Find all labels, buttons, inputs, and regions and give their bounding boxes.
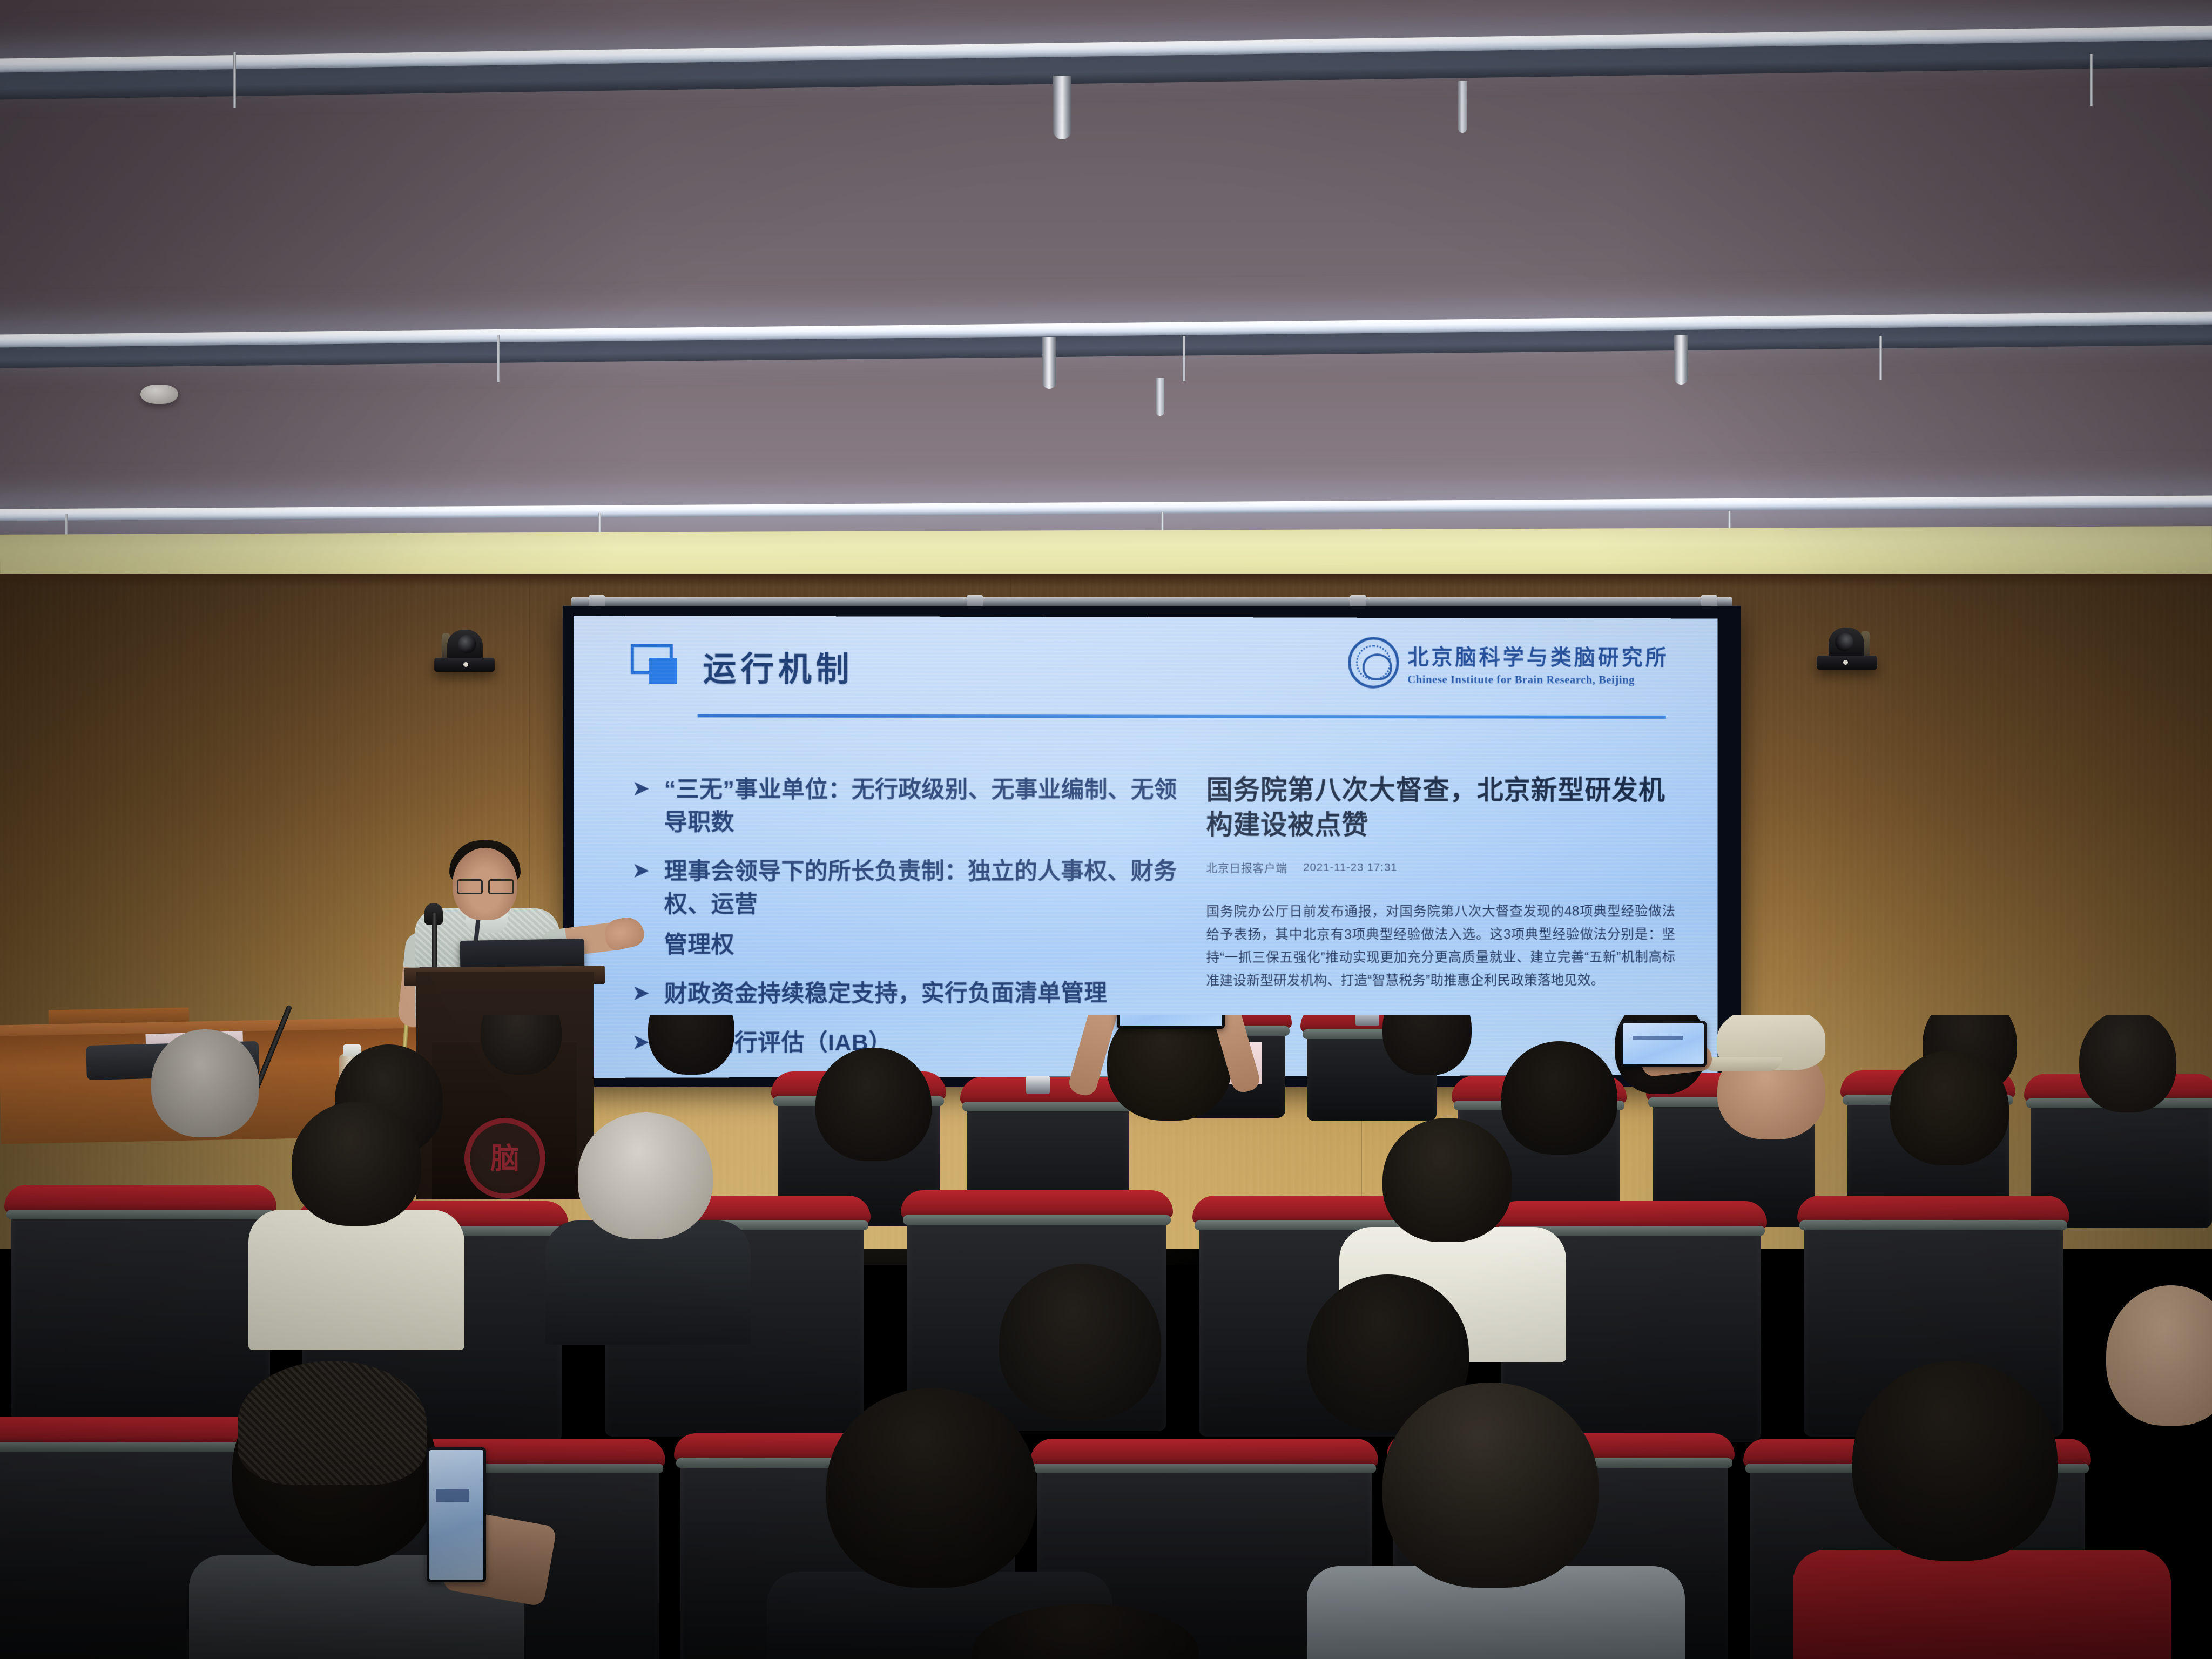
- smoke-detector-icon: [140, 385, 178, 404]
- bullet-item: ➤ “三无”事业单位：无行政级别、无事业编制、无领导职数: [632, 773, 1184, 839]
- audience-head: [1890, 1051, 2009, 1165]
- audience-head: [1382, 1118, 1512, 1242]
- phone-screen: [429, 1450, 483, 1580]
- auditorium-scene: 运行机制 北京脑科学与类脑研究所 Chinese Institute for B…: [0, 0, 2212, 1659]
- pendant-rod: [2090, 54, 2093, 106]
- screen-bracket: [967, 595, 983, 607]
- audience-shoulders-light: [248, 1210, 464, 1350]
- cap-brim: [1701, 1057, 1782, 1071]
- ptz-camera-left: [433, 630, 496, 682]
- institute-name-en: Chinese Institute for Brain Research, Be…: [1407, 673, 1669, 687]
- camera-lens-icon: [458, 635, 476, 653]
- pendant-spotlight-icon: [1156, 378, 1164, 416]
- ptz-camera-right: [1816, 628, 1878, 679]
- bullet-arrow-icon: ➤: [632, 982, 650, 1004]
- pendant-spotlight-icon: [1458, 81, 1467, 133]
- news-timestamp: 2021-11-23 17:31: [1303, 861, 1397, 874]
- presentation-slide: 运行机制 北京脑科学与类脑研究所 Chinese Institute for B…: [574, 616, 1717, 1078]
- audience-head: [481, 1015, 562, 1075]
- ceiling-shadow-right: [1618, 0, 2212, 543]
- pendant-rod: [497, 335, 500, 382]
- screen-bracket: [589, 595, 605, 607]
- slide-news-clipping: 国务院第八次大督查，北京新型研发机构建设被点赞 北京日报客户端 2021-11-…: [1206, 773, 1676, 993]
- institute-logo-mark-icon: [1348, 637, 1399, 688]
- audience-head: [2079, 1015, 2176, 1112]
- pendant-spotlight-icon: [1042, 337, 1056, 389]
- news-source: 北京日报客户端: [1206, 860, 1287, 876]
- audience-head: [2106, 1285, 2212, 1426]
- news-body: 国务院办公厅日前发布通报，对国务院第八次大督查发现的48项典型经验做法给予表扬，…: [1206, 900, 1676, 993]
- slide-decor-filled-square: [649, 658, 677, 684]
- screen-bracket: [1701, 595, 1717, 607]
- audience-head-grey: [151, 1029, 259, 1137]
- wall-top-trim: [0, 574, 2212, 588]
- smartphone-camera[interactable]: [1117, 1015, 1225, 1029]
- news-meta: 北京日报客户端 2021-11-23 17:31: [1206, 860, 1676, 876]
- institute-name-cn: 北京脑科学与类脑研究所: [1407, 639, 1669, 671]
- camera-lens-icon: [1835, 633, 1853, 651]
- bullet-text: 管理权: [664, 929, 734, 962]
- slide-title-rule: [698, 714, 1666, 719]
- pendant-rod: [1879, 336, 1882, 380]
- smartphone-camera[interactable]: [1620, 1021, 1707, 1067]
- pendant-rod: [1183, 336, 1185, 381]
- seat-clip: [1355, 1015, 1379, 1026]
- audience-area: 万士林: [0, 1015, 2212, 1659]
- audience-head-front: [1852, 1361, 2058, 1561]
- audience-head: [815, 1048, 932, 1161]
- seat-row-near[interactable]: [11, 1193, 270, 1420]
- phone-screen: [1623, 1023, 1704, 1064]
- bullet-item: ➤ 理事会领导下的所长负责制：独立的人事权、财务权、运营: [632, 855, 1184, 921]
- phone-screen: [1120, 1015, 1222, 1026]
- screen-bracket: [1350, 595, 1366, 607]
- audience-head: [648, 1015, 734, 1075]
- bullet-arrow-icon: ➤: [632, 860, 650, 881]
- camera-led-icon: [463, 662, 468, 667]
- camera-led-icon: [1843, 660, 1848, 665]
- glasses-icon: [457, 879, 514, 891]
- pendant-rod: [233, 52, 236, 108]
- audience-head-white-hair: [578, 1112, 713, 1239]
- audience-shoulders-red: [1793, 1550, 2171, 1659]
- bullet-arrow-icon: ➤: [632, 778, 650, 799]
- news-headline: 国务院第八次大督查，北京新型研发机构建设被点赞: [1206, 773, 1676, 842]
- audience-head: [999, 1264, 1161, 1420]
- slide-decor-icon: [626, 644, 673, 686]
- bullet-continuation: 管理权: [632, 928, 1184, 962]
- bullet-item: ➤ 财政资金持续稳定支持，实行负面清单管理: [632, 977, 1184, 1011]
- audience-head: [292, 1102, 421, 1226]
- institute-logo-text: 北京脑科学与类脑研究所 Chinese Institute for Brain …: [1407, 639, 1669, 686]
- smartphone-camera[interactable]: [427, 1447, 486, 1582]
- pendant-spotlight-icon: [1053, 76, 1071, 139]
- audience-head-photographer: [1107, 1015, 1231, 1121]
- seat-clip: [1026, 1076, 1050, 1094]
- pendant-spotlight-icon: [1674, 335, 1688, 385]
- institute-logo: 北京脑科学与类脑研究所 Chinese Institute for Brain …: [1348, 637, 1669, 689]
- bullet-text: 理事会领导下的所长负责制：独立的人事权、财务权、运营: [664, 855, 1184, 921]
- knit-cap: [238, 1361, 427, 1485]
- bullet-text: “三无”事业单位：无行政级别、无事业编制、无领导职数: [664, 773, 1184, 839]
- bullet-text: 财政资金持续稳定支持，实行负面清单管理: [664, 977, 1108, 1011]
- slide-title: 运行机制: [703, 642, 854, 691]
- audience-head: [1501, 1041, 1617, 1155]
- audience-head-front: [826, 1388, 1037, 1588]
- audience-head-front: [1382, 1382, 1599, 1588]
